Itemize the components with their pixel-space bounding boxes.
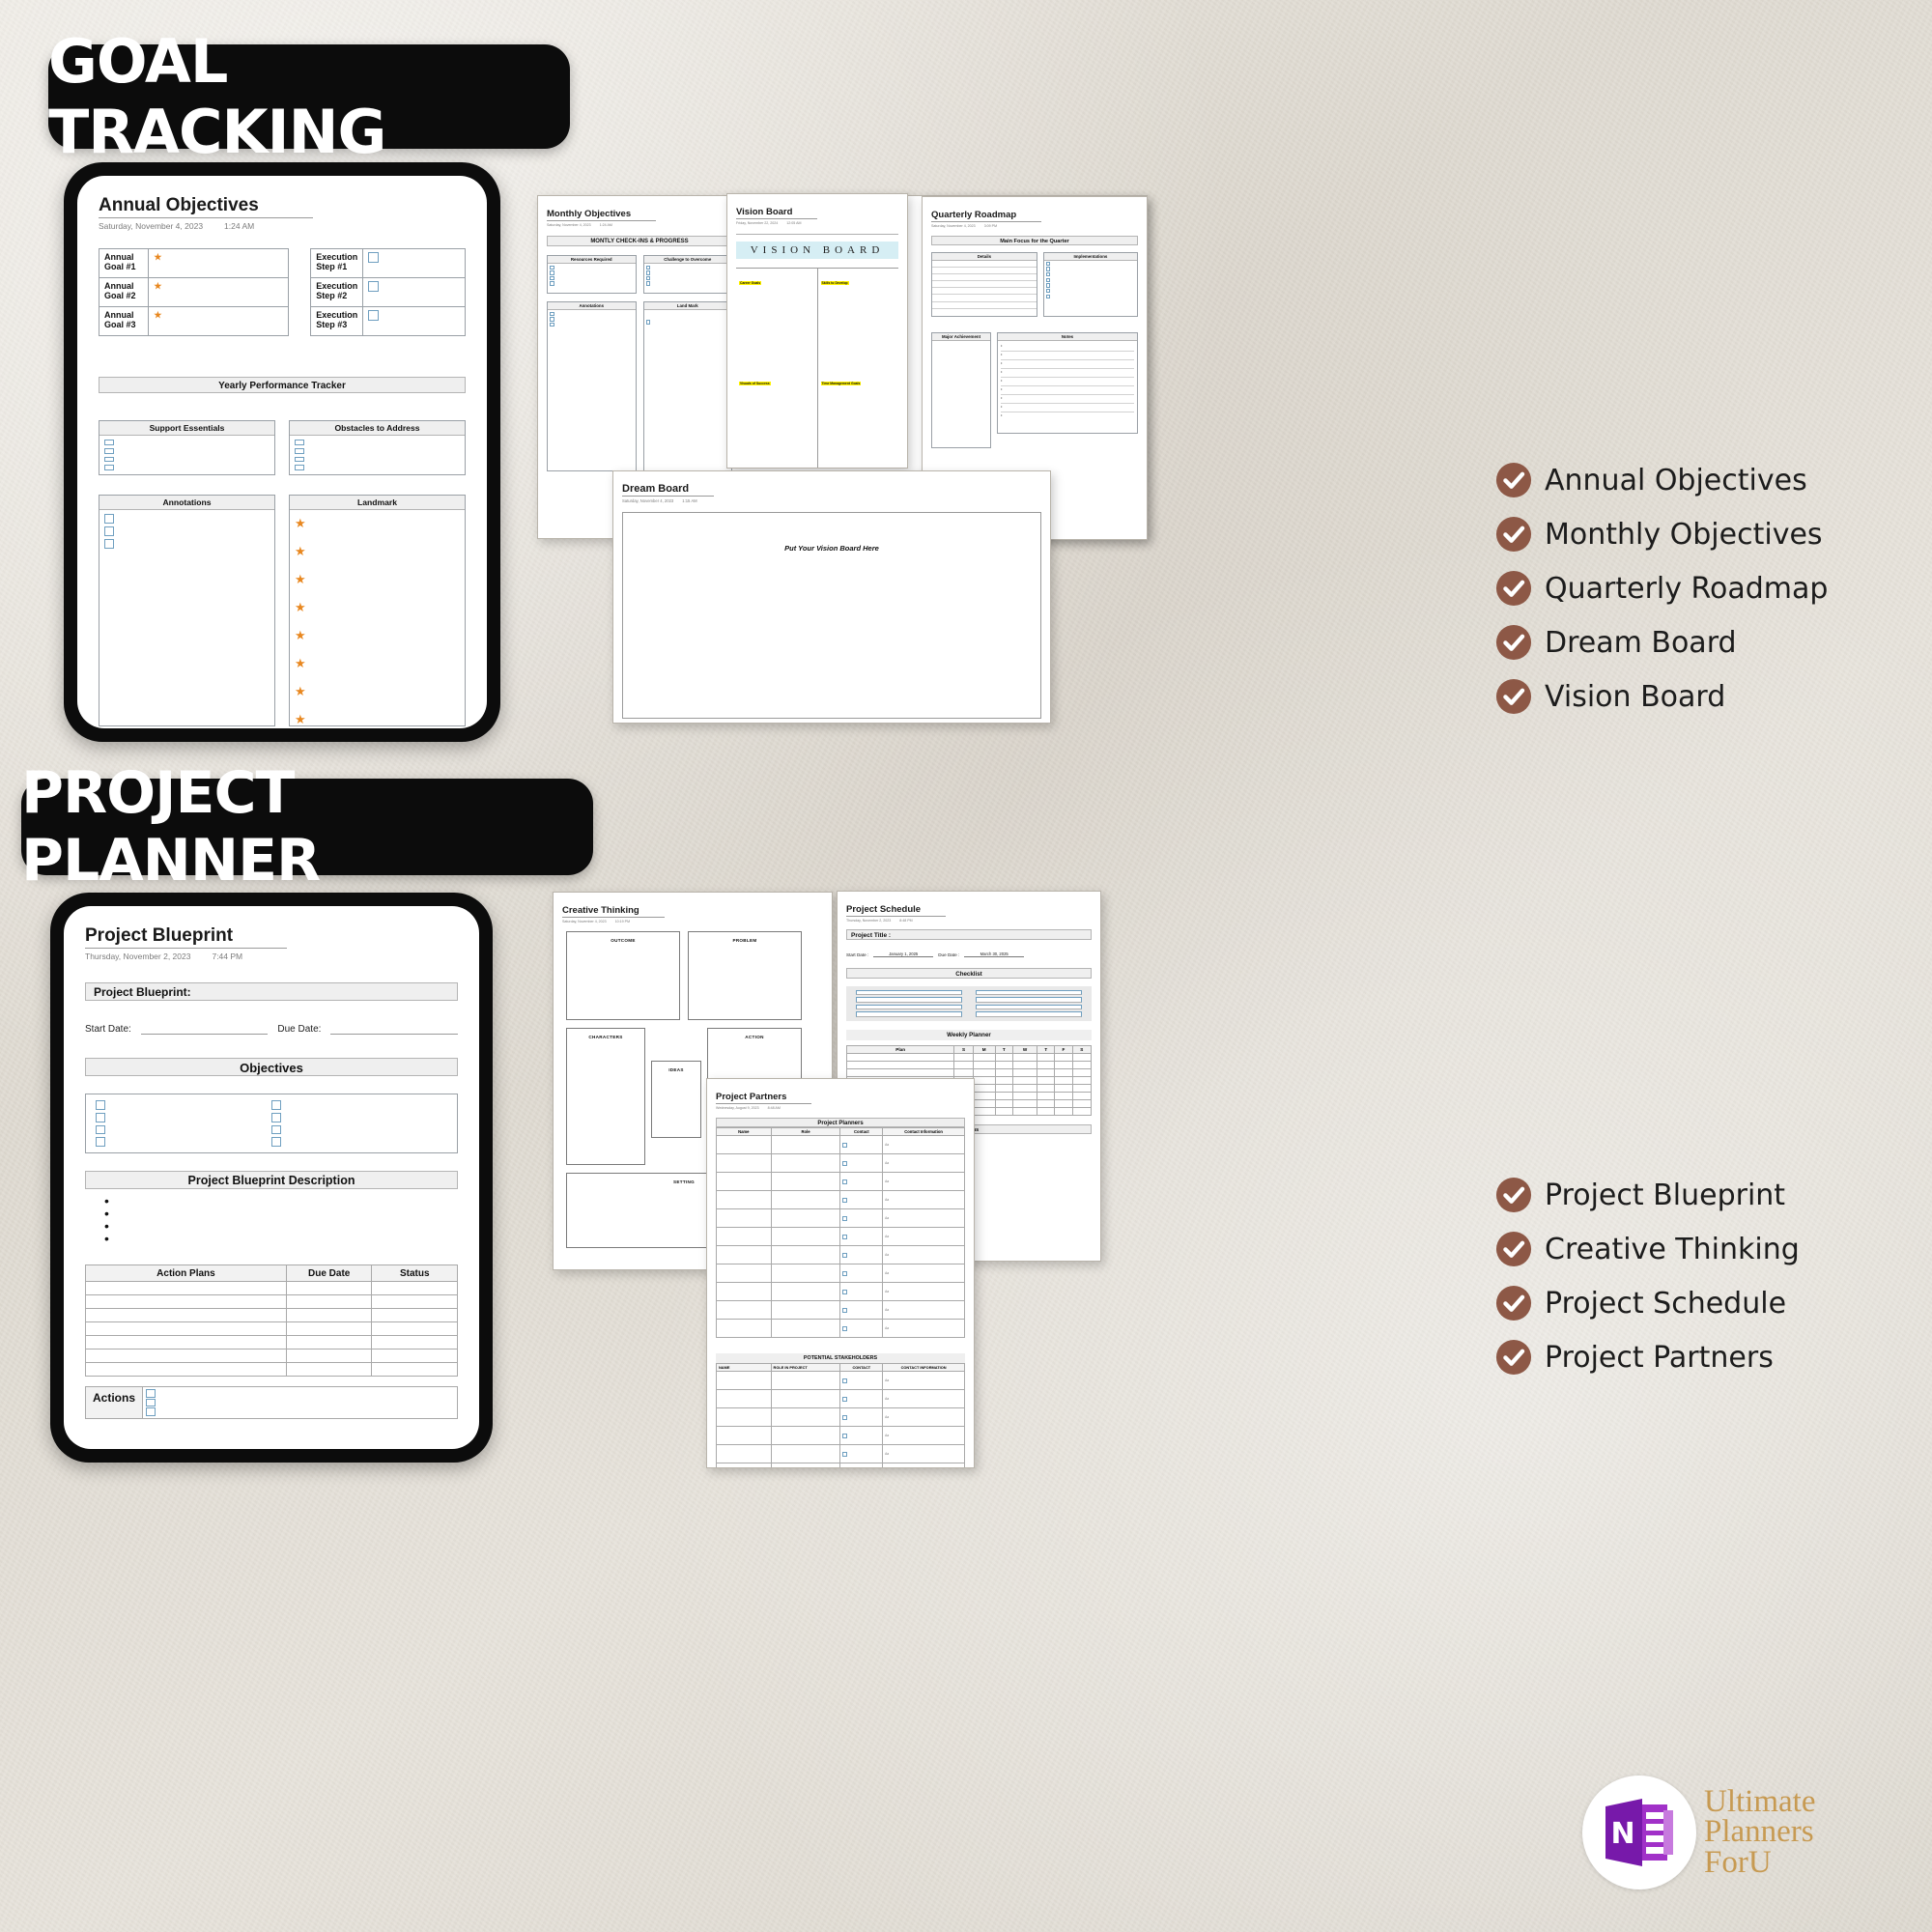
checkbox-row[interactable] xyxy=(856,997,962,1003)
landmark-box[interactable]: Landmark ★ ★ ★ ★ ★ ★ ★ ★ xyxy=(289,495,466,726)
star-icon: ★ xyxy=(295,517,460,529)
checkbox[interactable] xyxy=(1046,267,1051,271)
checkbox[interactable] xyxy=(104,440,114,445)
cell-role[interactable] xyxy=(771,1300,840,1319)
career-goals-label: Career Goals xyxy=(739,281,761,285)
execution-step-value-2[interactable] xyxy=(363,278,466,307)
cell-name[interactable] xyxy=(717,1264,772,1282)
checkbox[interactable] xyxy=(146,1399,156,1407)
schedule-due-value[interactable]: March 30, 2025 xyxy=(964,952,1024,957)
project-blueprint-meta: Thursday, November 2, 2023 7:44 PM xyxy=(85,952,458,961)
career-goals-quadrant[interactable]: Career Goals xyxy=(736,269,817,370)
cell-contact-information[interactable]: Aa xyxy=(883,1264,965,1282)
annotations-body[interactable] xyxy=(99,510,274,553)
checkbox[interactable] xyxy=(842,1143,847,1148)
cell-contact-information[interactable]: Aa xyxy=(883,1227,965,1245)
land-mark-body[interactable] xyxy=(644,310,732,331)
table-row[interactable]: Aa xyxy=(717,1153,965,1172)
checkbox[interactable] xyxy=(842,1179,847,1184)
actions-row[interactable]: Actions xyxy=(85,1386,458,1419)
monthly-checkins-banner: MONTLY CHECK-INS & PROGRESS xyxy=(547,236,732,246)
checkbox[interactable] xyxy=(104,465,114,470)
star-icon: ★ xyxy=(154,252,161,262)
checkbox[interactable] xyxy=(646,281,651,286)
table-row[interactable]: Aa xyxy=(717,1426,965,1444)
cell-contact-information[interactable]: Aa xyxy=(883,1426,965,1444)
star-icon: ★ xyxy=(295,601,460,613)
dream-board-title: Dream Board xyxy=(622,483,714,497)
support-essentials-box[interactable]: Support Essentials xyxy=(99,420,275,475)
vision-board-page[interactable]: Vision Board Friday, November 22, 2024 1… xyxy=(726,193,908,469)
table-row[interactable]: Aa xyxy=(717,1282,965,1300)
checkbox[interactable] xyxy=(646,276,651,281)
table-row[interactable]: Aa xyxy=(717,1389,965,1407)
checkbox[interactable] xyxy=(842,1198,847,1203)
annotations-box[interactable]: Annotations xyxy=(99,495,275,726)
table-row[interactable] xyxy=(847,1053,1092,1061)
cell-contact[interactable] xyxy=(840,1282,883,1300)
feature-label: Dream Board xyxy=(1545,626,1737,660)
checkbox[interactable] xyxy=(295,440,304,445)
cell-role[interactable] xyxy=(771,1190,840,1208)
action-label: ACTION xyxy=(708,1035,801,1039)
annual-goal-value-2[interactable]: ★ xyxy=(149,278,289,307)
table-row[interactable]: Execution Step #2 xyxy=(311,278,466,307)
table-row[interactable]: Aa xyxy=(717,1371,965,1389)
objectives-col-right[interactable] xyxy=(271,1100,447,1147)
cell-contact-information[interactable]: Aa xyxy=(883,1172,965,1190)
table-row[interactable]: Aa xyxy=(717,1227,965,1245)
checkbox[interactable] xyxy=(1046,262,1051,267)
obstacles-body[interactable] xyxy=(290,436,465,474)
checkbox[interactable] xyxy=(1046,278,1051,283)
vision-board-headline: VISION BOARD xyxy=(736,241,898,259)
obstacles-to-address-box[interactable]: Obstacles to Address xyxy=(289,420,466,475)
checkbox[interactable] xyxy=(842,1235,847,1239)
cell-name[interactable] xyxy=(717,1407,772,1426)
brand-line-2: Planners xyxy=(1704,1817,1815,1847)
checkbox[interactable] xyxy=(842,1308,847,1313)
table-row[interactable] xyxy=(86,1363,458,1377)
cell-contact[interactable] xyxy=(840,1190,883,1208)
notes-rows[interactable]: • • • • • • • • • xyxy=(998,341,1137,423)
cell-contact-information[interactable]: Aa xyxy=(883,1319,965,1337)
checkbox[interactable] xyxy=(1046,272,1051,277)
annual-goal-value-3[interactable]: ★ xyxy=(149,307,289,336)
checkbox[interactable] xyxy=(104,457,114,463)
resources-required-box[interactable]: Resources Required xyxy=(547,255,637,294)
checkbox-row[interactable] xyxy=(856,1005,962,1010)
cell-contact-information[interactable]: Aa xyxy=(883,1300,965,1319)
col-role: Role xyxy=(771,1127,840,1135)
cell-role[interactable] xyxy=(771,1245,840,1264)
table-row[interactable]: Aa xyxy=(717,1407,965,1426)
checkbox[interactable] xyxy=(96,1113,105,1122)
land-mark-box[interactable]: Land Mark xyxy=(643,301,733,471)
dream-board-canvas[interactable]: Put Your Vision Board Here xyxy=(622,512,1041,719)
cell-role[interactable] xyxy=(771,1172,840,1190)
table-row[interactable]: Aa xyxy=(717,1135,965,1153)
checkbox[interactable] xyxy=(295,465,304,470)
cell-name[interactable] xyxy=(717,1135,772,1153)
table-row[interactable] xyxy=(86,1336,458,1350)
project-planners-table[interactable]: Name Role Contact Contact Information Aa… xyxy=(716,1127,965,1338)
table-row[interactable]: Aa xyxy=(717,1300,965,1319)
feature-label: Creative Thinking xyxy=(1545,1233,1800,1266)
checkbox[interactable] xyxy=(646,320,651,325)
checkbox[interactable] xyxy=(842,1161,847,1166)
checkbox[interactable] xyxy=(646,266,651,270)
creative-thinking-meta: Saturday, November 4, 2023 10:19 PM xyxy=(562,920,823,923)
checkbox[interactable] xyxy=(104,514,114,524)
objectives-col-left[interactable] xyxy=(96,1100,271,1147)
table-row[interactable] xyxy=(86,1282,458,1295)
vision-board-title: Vision Board xyxy=(736,207,817,219)
cell-contact-information[interactable]: Aa xyxy=(883,1463,965,1468)
checkbox[interactable] xyxy=(1046,289,1051,294)
landmark-body[interactable]: ★ ★ ★ ★ ★ ★ ★ ★ xyxy=(290,510,465,728)
table-header-row: Plan S M T W T F S xyxy=(847,1045,1092,1053)
checkbox[interactable] xyxy=(842,1434,847,1438)
dream-board-time: 1:15 AM xyxy=(682,498,696,503)
checkbox[interactable] xyxy=(842,1397,847,1402)
checkbox[interactable] xyxy=(842,1271,847,1276)
table-row[interactable]: Aa xyxy=(717,1208,965,1227)
table-row[interactable]: Annual Goal #1 ★ xyxy=(99,249,289,278)
checkbox-row[interactable] xyxy=(976,997,1082,1003)
table-row[interactable]: Annual Goal #3 ★ xyxy=(99,307,289,336)
cell-contact-information[interactable]: Aa xyxy=(883,1135,965,1153)
schedule-dates: Start Date : January 1, 2025 Due Date : … xyxy=(846,952,1092,957)
col-contact: CONTACT xyxy=(840,1363,883,1371)
check-circle-icon xyxy=(1495,1177,1532,1213)
implementations-rows[interactable] xyxy=(1044,261,1137,300)
outcome-label: OUTCOME xyxy=(567,938,679,943)
cell-contact-information[interactable]: Aa xyxy=(883,1371,965,1389)
checkbox[interactable] xyxy=(271,1125,281,1135)
checkbox[interactable] xyxy=(842,1216,847,1221)
project-partners-time: 8:48 AM xyxy=(768,1106,781,1110)
checkbox[interactable] xyxy=(104,448,114,454)
cell-name[interactable] xyxy=(717,1426,772,1444)
star-icon: ★ xyxy=(154,281,161,291)
checkbox-row[interactable] xyxy=(976,1011,1082,1017)
resources-required-header: Resources Required xyxy=(548,256,636,264)
annual-objectives-meta: Saturday, November 4, 2023 1:24 AM xyxy=(99,221,466,231)
cell-contact[interactable] xyxy=(840,1227,883,1245)
cell-name[interactable] xyxy=(717,1463,772,1468)
notes-header: Notes xyxy=(998,333,1137,341)
project-partners-title: Project Partners xyxy=(716,1092,811,1104)
cell-contact[interactable] xyxy=(840,1135,883,1153)
cell-role[interactable] xyxy=(771,1227,840,1245)
table-header-row: Action Plans Due Date Status xyxy=(86,1265,458,1282)
time-management-goals-quadrant[interactable]: Time Management Goals xyxy=(818,369,899,469)
table-row[interactable]: Execution Step #1 xyxy=(311,249,466,278)
execution-step-value-3[interactable] xyxy=(363,307,466,336)
project-blueprint-title: Project Blueprint xyxy=(85,925,287,949)
col-sun: S xyxy=(954,1045,973,1053)
feature-list-item: Project Partners xyxy=(1495,1339,1800,1376)
dream-board-date: Saturday, November 4, 2023 xyxy=(622,498,673,503)
checkbox[interactable] xyxy=(550,323,554,327)
checkbox[interactable] xyxy=(368,310,379,321)
implementations-header: Implementations xyxy=(1044,253,1137,261)
cell-role[interactable] xyxy=(771,1426,840,1444)
problem-box[interactable]: PROBLEM xyxy=(688,931,802,1020)
checkbox[interactable] xyxy=(96,1137,105,1147)
checklist-col-right[interactable] xyxy=(976,990,1082,1017)
checkbox[interactable] xyxy=(550,266,554,270)
goal-tracking-feature-list: Annual ObjectivesMonthly ObjectivesQuart… xyxy=(1495,462,1828,732)
cell-name[interactable] xyxy=(717,1153,772,1172)
execution-step-label-3: Execution Step #3 xyxy=(311,307,363,336)
cell-contact[interactable] xyxy=(840,1245,883,1264)
monthly-annotations-box[interactable]: Annotations xyxy=(547,301,637,471)
time-management-goals-label: Time Management Goals xyxy=(821,382,862,385)
checkbox[interactable] xyxy=(368,281,379,292)
cell-contact-information[interactable]: Aa xyxy=(883,1190,965,1208)
execution-step-value-1[interactable] xyxy=(363,249,466,278)
cell-contact[interactable] xyxy=(840,1264,883,1282)
checkbox-row[interactable] xyxy=(976,990,1082,996)
cell-role[interactable] xyxy=(771,1371,840,1389)
monthly-objectives-date: Saturday, November 4, 2023 xyxy=(547,223,591,227)
table-row[interactable]: Aa xyxy=(717,1319,965,1337)
table-row[interactable]: Aa xyxy=(717,1463,965,1468)
monthly-annotations-body[interactable] xyxy=(548,310,636,329)
annual-objectives-page[interactable]: Annual Objectives Saturday, November 4, … xyxy=(77,176,487,728)
creative-thinking-title: Creative Thinking xyxy=(562,905,665,918)
checkbox[interactable] xyxy=(550,270,554,275)
annual-goal-label-3: Annual Goal #3 xyxy=(99,307,149,336)
cell-contact[interactable] xyxy=(840,1407,883,1426)
description-bullets[interactable]: •••• xyxy=(85,1195,458,1245)
vision-col-left: Career Goals Visuals of Success xyxy=(736,269,818,469)
checkbox[interactable] xyxy=(550,312,554,317)
table-row[interactable] xyxy=(86,1295,458,1309)
monthly-row-1: Resources Required Challenge to Overcome xyxy=(547,255,732,294)
challenge-to-overcome-box[interactable]: Challenge to Overcome xyxy=(643,255,733,294)
monthly-row-2: Annotations Land Mark xyxy=(547,301,732,471)
brand-name: Ultimate Planners ForU xyxy=(1704,1787,1815,1878)
project-partners-page[interactable]: Project Partners Wednesday, August 9, 20… xyxy=(706,1078,975,1468)
table-row[interactable]: Aa xyxy=(717,1245,965,1264)
checkbox[interactable] xyxy=(1046,295,1051,299)
checklist-box[interactable] xyxy=(846,986,1092,1021)
cell-contact-information[interactable]: Aa xyxy=(883,1407,965,1426)
cell-role[interactable] xyxy=(771,1444,840,1463)
cell-contact-information[interactable]: Aa xyxy=(883,1153,965,1172)
cell-contact[interactable] xyxy=(840,1300,883,1319)
cell-contact[interactable] xyxy=(840,1371,883,1389)
cell-role[interactable] xyxy=(771,1463,840,1468)
execution-steps-table[interactable]: Execution Step #1 Execution Step #2 Exec… xyxy=(310,248,466,336)
table-row[interactable] xyxy=(847,1061,1092,1068)
feature-label: Project Blueprint xyxy=(1545,1179,1785,1212)
checkbox[interactable] xyxy=(271,1137,281,1147)
cell-name[interactable] xyxy=(717,1282,772,1300)
schedule-start-value[interactable]: January 1, 2025 xyxy=(873,952,933,957)
table-row[interactable]: Aa xyxy=(717,1264,965,1282)
checkbox[interactable] xyxy=(271,1100,281,1110)
table-row[interactable] xyxy=(86,1309,458,1322)
cell-name[interactable] xyxy=(717,1227,772,1245)
project-planners-rows[interactable]: AaAaAaAaAaAaAaAaAaAaAa xyxy=(717,1135,965,1337)
annual-objectives-frame: Annual Objectives Saturday, November 4, … xyxy=(64,162,500,742)
ideas-box[interactable]: IDEAS xyxy=(651,1061,701,1138)
potential-stakeholders-rows[interactable]: AaAaAaAaAaAaAaAaAaAaAa xyxy=(717,1371,965,1468)
checkbox[interactable] xyxy=(104,539,114,549)
checklist-col-left[interactable] xyxy=(856,990,962,1017)
checkbox[interactable] xyxy=(146,1407,156,1416)
project-schedule-date: Thursday, November 2, 2023 xyxy=(846,919,891,923)
cell-name[interactable] xyxy=(717,1245,772,1264)
cell-role[interactable] xyxy=(771,1264,840,1282)
dream-board-page[interactable]: Dream Board Saturday, November 4, 2023 1… xyxy=(612,470,1051,724)
cell-role[interactable] xyxy=(771,1135,840,1153)
cell-contact[interactable] xyxy=(840,1444,883,1463)
cell-role[interactable] xyxy=(771,1389,840,1407)
checkbox-row[interactable] xyxy=(976,1005,1082,1010)
checkbox[interactable] xyxy=(550,317,554,322)
checkbox[interactable] xyxy=(842,1253,847,1258)
feature-list-item: Annual Objectives xyxy=(1495,462,1828,498)
cell-contact[interactable] xyxy=(840,1172,883,1190)
table-row[interactable] xyxy=(847,1068,1092,1076)
annual-goal-label-2: Annual Goal #2 xyxy=(99,278,149,307)
checkbox[interactable] xyxy=(146,1389,156,1398)
ideas-label: IDEAS xyxy=(652,1067,700,1072)
cell-role[interactable] xyxy=(771,1282,840,1300)
characters-box[interactable]: CHARACTERS xyxy=(566,1028,645,1165)
table-row[interactable] xyxy=(86,1350,458,1363)
checkbox[interactable] xyxy=(842,1326,847,1331)
checkbox-row[interactable] xyxy=(856,990,962,996)
col-tue: T xyxy=(995,1045,1012,1053)
check-circle-icon xyxy=(1495,1285,1532,1321)
schedule-due-label: Due Date : xyxy=(938,952,959,957)
support-essentials-body[interactable] xyxy=(99,436,274,474)
checkbox[interactable] xyxy=(96,1100,105,1110)
cell-contact-information[interactable]: Aa xyxy=(883,1282,965,1300)
checklist-bar: Checklist xyxy=(846,968,1092,979)
cell-contact[interactable] xyxy=(840,1208,883,1227)
cell-contact[interactable] xyxy=(840,1153,883,1172)
col-fri: F xyxy=(1055,1045,1072,1053)
cell-contact[interactable] xyxy=(840,1426,883,1444)
table-row[interactable]: Aa xyxy=(717,1190,965,1208)
brand-logo: N Ultimate Planners ForU xyxy=(1582,1776,1815,1889)
actions-checkboxes[interactable] xyxy=(143,1387,158,1418)
checkbox[interactable] xyxy=(842,1378,847,1383)
project-title-bar: Project Title : xyxy=(846,929,1092,940)
cell-role[interactable] xyxy=(771,1208,840,1227)
banner-project-planner: PROJECT PLANNER xyxy=(21,779,593,875)
dream-board-placeholder: Put Your Vision Board Here xyxy=(623,544,1040,553)
action-plans-table[interactable]: Action Plans Due Date Status xyxy=(85,1264,458,1377)
project-partners-meta: Wednesday, August 9, 2023 8:48 AM xyxy=(716,1106,965,1110)
annual-goal-label-1: Annual Goal #1 xyxy=(99,249,149,278)
visuals-of-success-quadrant[interactable]: Visuals of Success xyxy=(736,369,817,469)
checkbox[interactable] xyxy=(104,526,114,536)
outcome-box[interactable]: OUTCOME xyxy=(566,931,680,1020)
cell-contact-information[interactable]: Aa xyxy=(883,1245,965,1264)
checkbox[interactable] xyxy=(271,1113,281,1122)
cell-name[interactable] xyxy=(717,1190,772,1208)
major-achievement-box[interactable]: Major Achievement xyxy=(931,332,991,448)
table-row[interactable]: Aa xyxy=(717,1172,965,1190)
checkbox[interactable] xyxy=(550,276,554,281)
checkbox[interactable] xyxy=(96,1125,105,1135)
checkbox-row[interactable] xyxy=(856,1011,962,1017)
project-blueprint-page[interactable]: Project Blueprint Thursday, November 2, … xyxy=(64,906,479,1449)
checkbox[interactable] xyxy=(368,252,379,263)
project-planners-bar: Project Planners xyxy=(716,1118,965,1127)
cell-name[interactable] xyxy=(717,1172,772,1190)
checkbox[interactable] xyxy=(295,448,304,454)
cell-contact[interactable] xyxy=(840,1319,883,1337)
cell-role[interactable] xyxy=(771,1153,840,1172)
cell-contact-information[interactable]: Aa xyxy=(883,1389,965,1407)
checkbox[interactable] xyxy=(842,1452,847,1457)
checkbox[interactable] xyxy=(550,281,554,286)
visuals-of-success-label: Visuals of Success xyxy=(739,382,771,385)
cell-contact[interactable] xyxy=(840,1389,883,1407)
table-row[interactable]: Execution Step #3 xyxy=(311,307,466,336)
cell-name[interactable] xyxy=(717,1444,772,1463)
details-rows[interactable] xyxy=(932,261,1037,317)
cell-contact-information[interactable]: Aa xyxy=(883,1444,965,1463)
cell-name[interactable] xyxy=(717,1208,772,1227)
resources-required-body[interactable] xyxy=(548,264,636,293)
weekly-planner-bar: Weekly Planner xyxy=(846,1030,1092,1040)
start-date-input[interactable] xyxy=(141,1022,269,1035)
creative-thinking-date: Saturday, November 4, 2023 xyxy=(562,920,607,923)
checkbox[interactable] xyxy=(842,1290,847,1294)
due-date-input[interactable] xyxy=(330,1022,458,1035)
checkbox[interactable] xyxy=(1046,283,1051,288)
checkbox[interactable] xyxy=(295,457,304,463)
details-box[interactable]: Details xyxy=(931,252,1037,318)
cell-name[interactable] xyxy=(717,1371,772,1389)
cell-role[interactable] xyxy=(771,1319,840,1337)
annual-goal-value-1[interactable]: ★ xyxy=(149,249,289,278)
checkbox[interactable] xyxy=(646,270,651,275)
table-row[interactable]: Aa xyxy=(717,1444,965,1463)
obstacles-header: Obstacles to Address xyxy=(290,421,465,436)
implementations-box[interactable]: Implementations xyxy=(1043,252,1138,318)
cell-role[interactable] xyxy=(771,1407,840,1426)
table-row[interactable] xyxy=(86,1322,458,1336)
potential-stakeholders-table[interactable]: NAME ROLE IN PROJECT CONTACT CONTACT INF… xyxy=(716,1363,965,1469)
major-achievement-header: Major Achievement xyxy=(932,333,990,341)
cell-contact-information[interactable]: Aa xyxy=(883,1208,965,1227)
quarterly-roadmap-title: Quarterly Roadmap xyxy=(931,210,1041,222)
challenge-body[interactable] xyxy=(644,264,732,293)
table-row[interactable]: Annual Goal #2 ★ xyxy=(99,278,289,307)
notes-box[interactable]: Notes • • • • • • • • • xyxy=(997,332,1138,434)
checkbox[interactable] xyxy=(842,1415,847,1420)
monthly-objectives-time: 1:24 AM xyxy=(600,223,612,227)
cell-name[interactable] xyxy=(717,1389,772,1407)
skills-to-develop-quadrant[interactable]: Skills to Develop xyxy=(818,269,899,370)
cell-name[interactable] xyxy=(717,1300,772,1319)
cell-name[interactable] xyxy=(717,1319,772,1337)
objectives-box[interactable] xyxy=(85,1094,458,1153)
annual-goals-table[interactable]: Annual Goal #1 ★ Annual Goal #2 ★ Annual… xyxy=(99,248,289,336)
cell-contact[interactable] xyxy=(840,1463,883,1468)
